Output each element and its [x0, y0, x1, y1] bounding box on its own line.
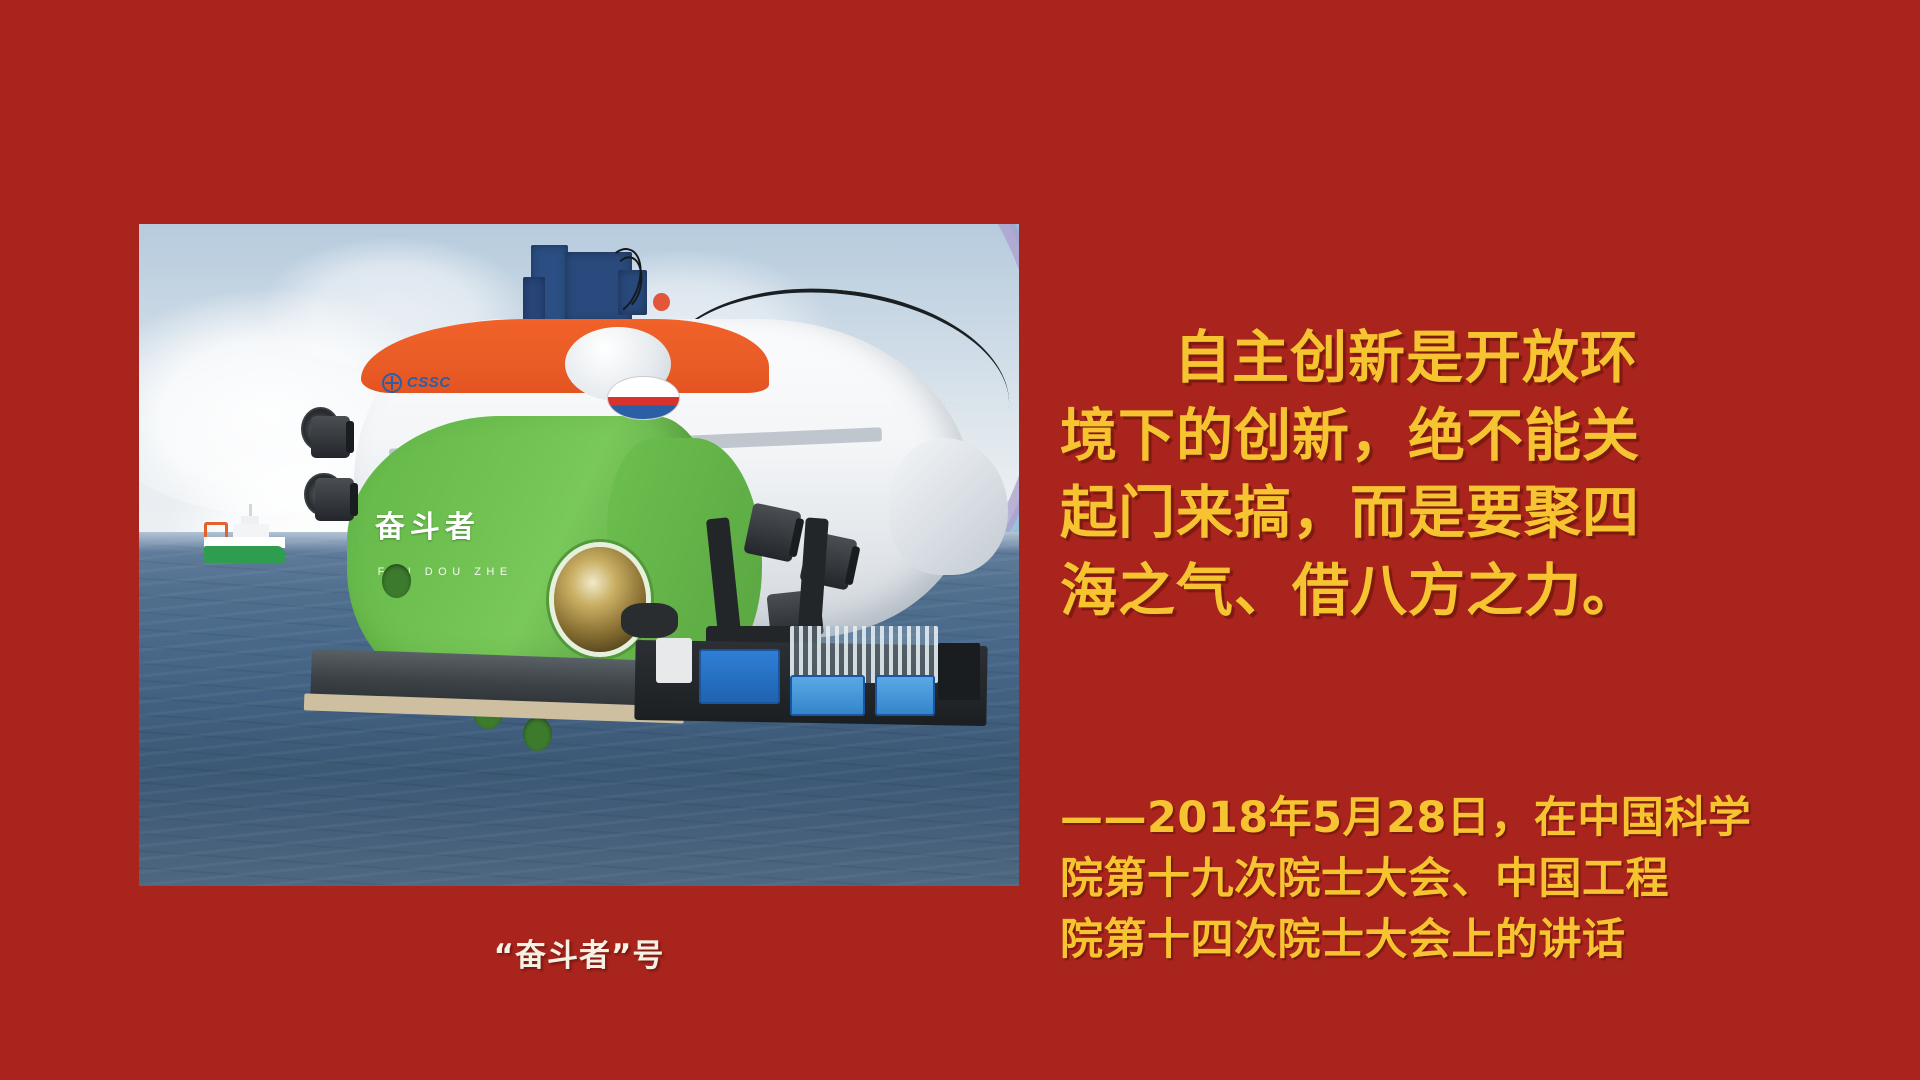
- cssc-mark-icon: [382, 373, 402, 393]
- sample-crate: [875, 675, 935, 716]
- port-hole: [382, 564, 412, 598]
- sample-bag: [656, 638, 691, 684]
- thruster: [311, 416, 350, 459]
- hull-nose-cone: [889, 438, 1009, 575]
- quote-line: 境下的创新，绝不能关: [1060, 398, 1800, 476]
- ship-hull-green: [204, 546, 285, 563]
- cssc-logo: CSSC: [382, 373, 451, 393]
- thruster: [315, 478, 354, 521]
- photo-stage: CSSC 奋斗者 FEN DOU ZHE: [139, 224, 1019, 886]
- thruster: [743, 502, 802, 562]
- submersible: CSSC 奋斗者 FEN DOU ZHE: [297, 250, 1001, 819]
- oval-emblem-badge: [607, 376, 679, 421]
- port-hole: [523, 717, 553, 751]
- equipment-pod: [621, 603, 677, 637]
- photo-panel: CSSC 奋斗者 FEN DOU ZHE: [139, 224, 1019, 886]
- text-column: 自主创新是开放环 境下的创新，绝不能关 起门来搞，而是要聚四 海之气、借八方之力…: [1060, 0, 1860, 1080]
- support-ship: [204, 513, 285, 563]
- attribution-line: 院第十九次院士大会、中国工程: [1060, 849, 1800, 910]
- sample-crate: [790, 675, 864, 716]
- quote-block: 自主创新是开放环 境下的创新，绝不能关 起门来搞，而是要聚四 海之气、借八方之力…: [1060, 320, 1800, 630]
- attribution-block: ——2018年5月28日，在中国科学 院第十九次院士大会、中国工程 院第十四次院…: [1060, 788, 1800, 971]
- quote-slide: CSSC 奋斗者 FEN DOU ZHE: [0, 0, 1920, 1080]
- photo-caption: “奋斗者”号: [139, 930, 1019, 975]
- attribution-line: ——2018年5月28日，在中国科学: [1060, 788, 1800, 849]
- quote-line: 海之气、借八方之力。: [1060, 553, 1800, 631]
- attribution-line: 院第十四次院士大会上的讲话: [1060, 910, 1800, 971]
- quote-line: 起门来搞，而是要聚四: [1060, 475, 1800, 553]
- hull-name-cn: 奋斗者: [375, 512, 586, 544]
- quote-line: 自主创新是开放环: [1060, 320, 1800, 398]
- cssc-label: CSSC: [407, 374, 451, 391]
- sample-crate: [699, 649, 780, 704]
- equipment-box: [938, 643, 980, 700]
